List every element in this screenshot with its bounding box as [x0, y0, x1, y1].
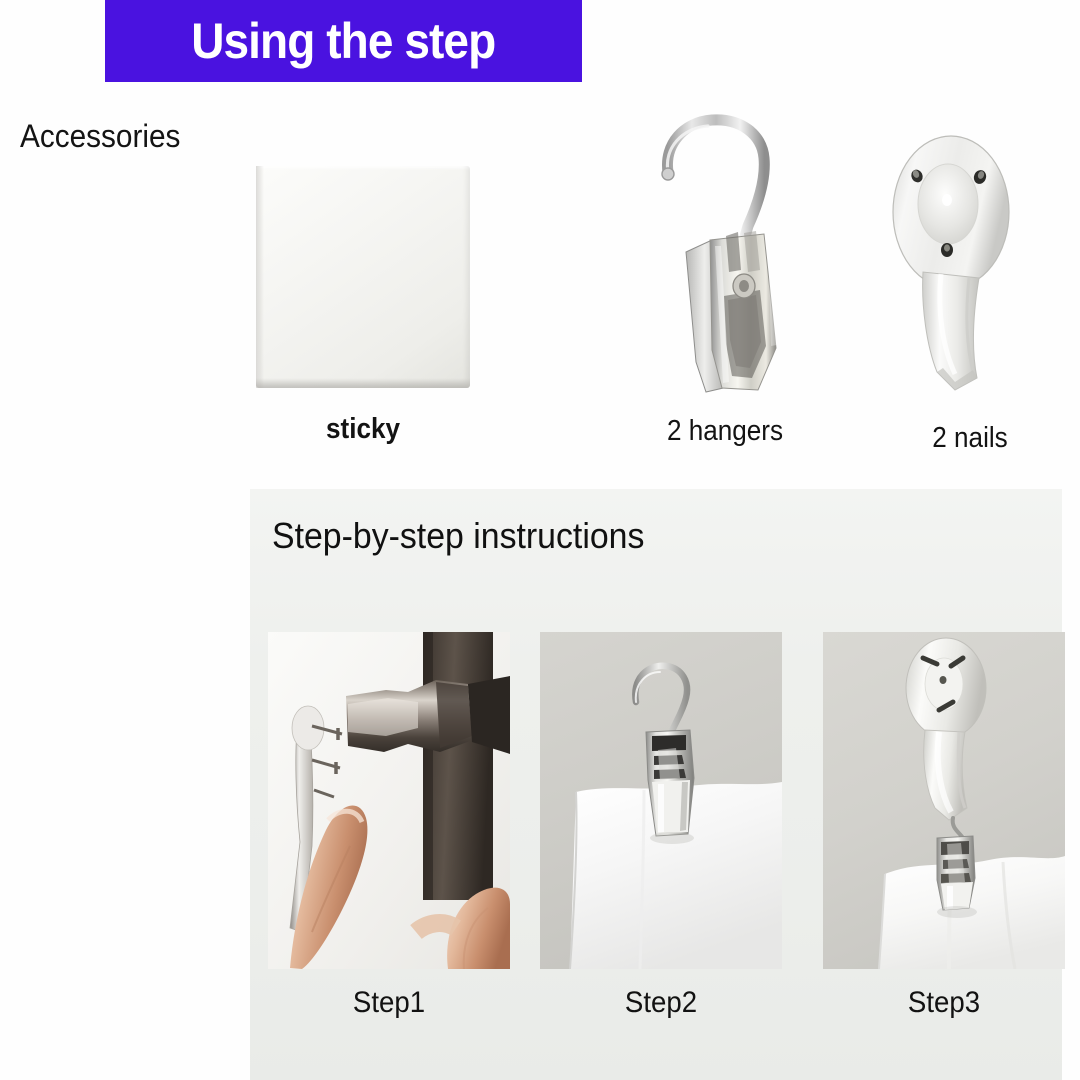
step3-label: Step3 — [833, 986, 1056, 1020]
accessory-label-sticky: sticky — [266, 413, 460, 446]
accessory-label-nails: 2 nails — [885, 422, 1056, 455]
sticky-pad-icon — [256, 166, 470, 388]
infographic-page: Using the step Accessories sticky — [0, 0, 1080, 1080]
steps-panel: Step-by-step instructions — [250, 489, 1062, 1080]
page-title: Using the step — [191, 16, 495, 66]
step1-photo — [268, 632, 510, 969]
wall-hook-nail-icon — [885, 132, 1035, 397]
accessories-heading: Accessories — [20, 118, 180, 155]
steps-heading: Step-by-step instructions — [272, 515, 644, 557]
step1-label: Step1 — [278, 986, 501, 1020]
step2-label: Step2 — [550, 986, 773, 1020]
step-photo-row — [268, 632, 1048, 969]
hanger-clip-icon — [640, 100, 810, 400]
accessory-label-hangers: 2 hangers — [631, 415, 820, 448]
step2-photo — [540, 632, 782, 969]
step3-photo — [823, 632, 1065, 969]
title-banner: Using the step — [105, 0, 582, 82]
